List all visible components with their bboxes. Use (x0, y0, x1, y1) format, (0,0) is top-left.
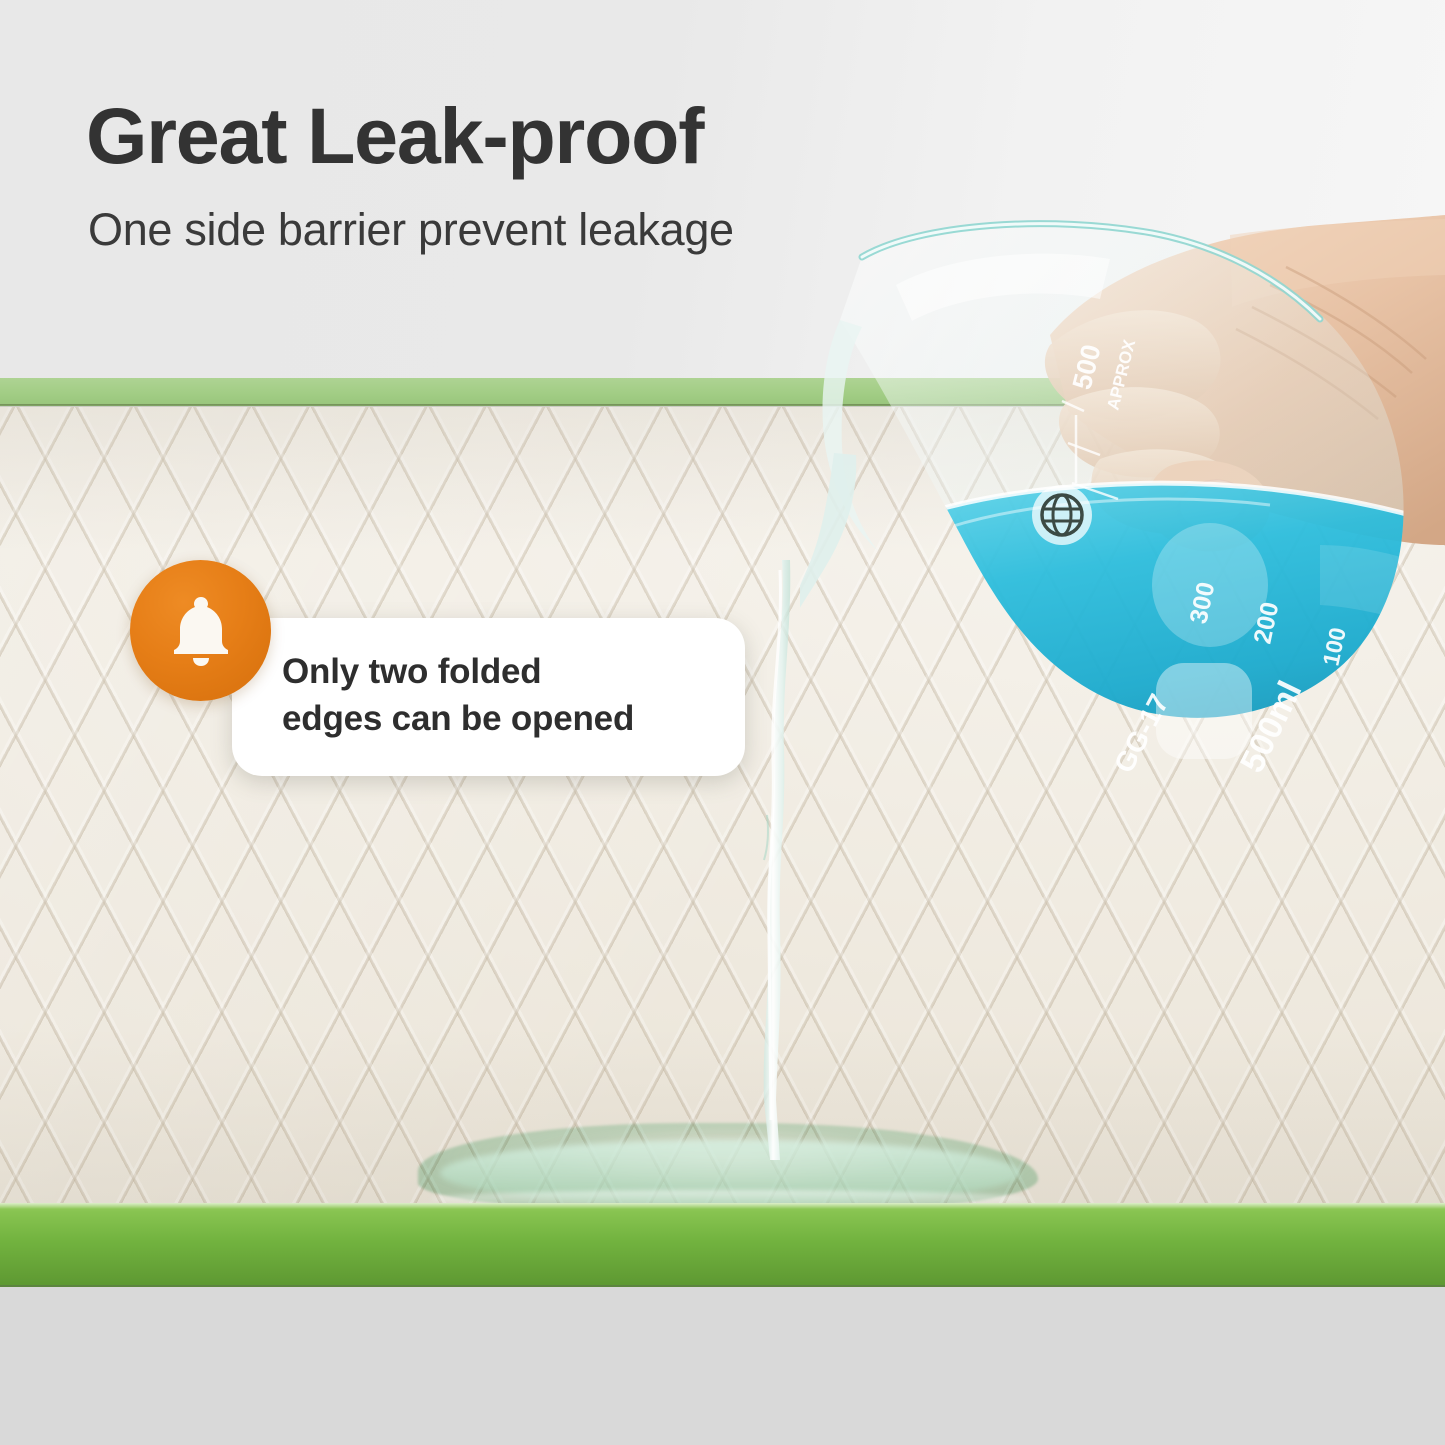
leak-proof-barrier (0, 1203, 1445, 1287)
beaker-label-patch (1156, 663, 1252, 759)
bell-icon (166, 593, 236, 668)
barrier-highlight (0, 1203, 1445, 1209)
callout-line-1: Only two folded (282, 648, 752, 695)
page-subtitle: One side barrier prevent leakage (88, 204, 734, 256)
globe-icon (1032, 485, 1092, 545)
callout-text: Only two folded edges can be opened (282, 648, 752, 743)
callout-badge (130, 560, 271, 701)
product-feature-image: Great Leak-proof One side barrier preven… (0, 0, 1445, 1445)
backdrop-lower (0, 1287, 1445, 1445)
callout-line-2: edges can be opened (282, 695, 752, 742)
beaker-and-hand: 500 APPROX 300 200 100 GG-17 500ml (800, 215, 1445, 775)
page-title: Great Leak-proof (86, 96, 703, 175)
water-stream (752, 560, 796, 1160)
